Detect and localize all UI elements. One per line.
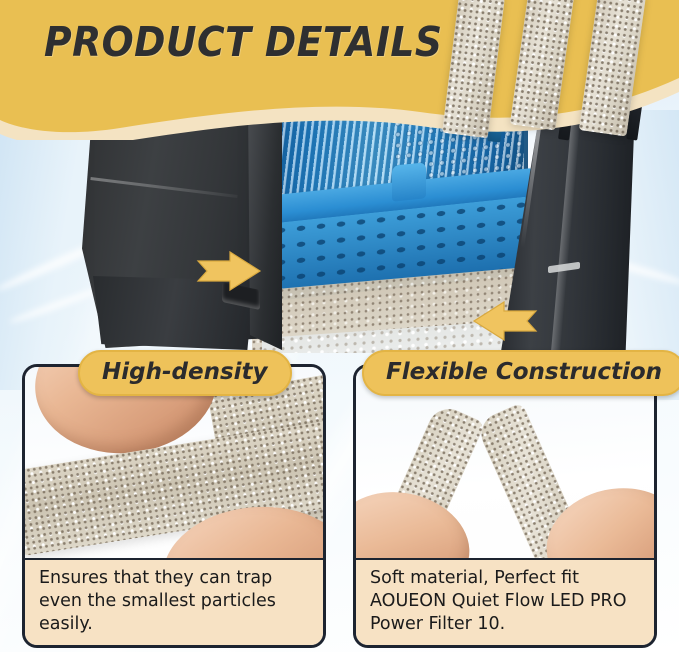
badge-high-density: High-density [78, 350, 292, 396]
hero-product-photo [0, 78, 679, 353]
hand-holding-filter-pad-photo [25, 367, 323, 577]
arrow-right-icon [196, 250, 262, 297]
badge-flexible-construction: Flexible Construction [362, 350, 679, 396]
panel-caption: Ensures that they can trap even the smal… [25, 558, 323, 645]
panel-caption: Soft material, Perfect fit AOUEON Quiet … [356, 558, 654, 645]
feature-panel-flexible-construction: Soft material, Perfect fit AOUEON Quiet … [353, 364, 657, 648]
arrow-left-icon [472, 300, 538, 347]
feature-panel-high-density: Ensures that they can trap even the smal… [22, 364, 326, 648]
hands-bending-filter-pad-photo [356, 367, 654, 577]
housing-side-edge [248, 100, 282, 350]
product-details-infographic: PRODUCT DETAILS Ensures that they can tr… [0, 0, 679, 652]
cartridge-knob [392, 162, 426, 202]
